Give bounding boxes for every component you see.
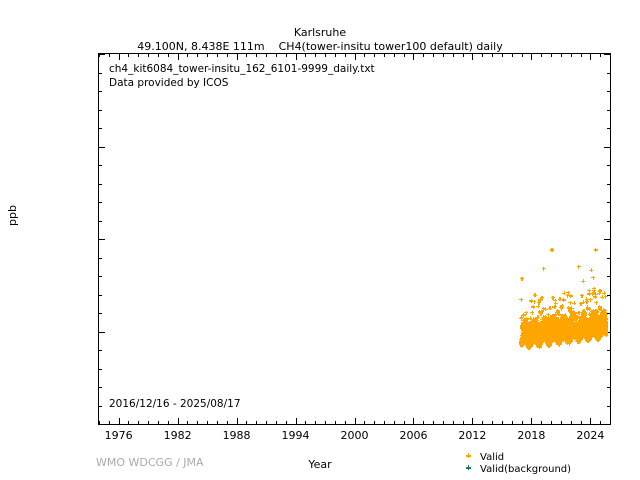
- data-point: [569, 294, 573, 298]
- data-point: [580, 294, 584, 298]
- data-point: [531, 305, 535, 309]
- data-point: [554, 301, 558, 305]
- data-point: [544, 307, 548, 311]
- page-title: Karlsruhe: [0, 27, 640, 39]
- data-point: [532, 300, 536, 304]
- data-point: [533, 293, 537, 297]
- legend-item-2[interactable]: Valid(background): [462, 464, 571, 476]
- x-tick-label: 2024: [550, 430, 630, 442]
- data-point: [589, 298, 593, 302]
- data-point: [604, 295, 608, 299]
- data-point: [560, 304, 564, 308]
- data-point: [562, 298, 566, 302]
- tick-mark: [99, 424, 105, 425]
- data-point: [583, 313, 587, 317]
- y-axis-label: ppb: [7, 212, 19, 226]
- station-subtitle: 49.100N, 8.438E 111m CH4(tower-insitu to…: [0, 41, 640, 53]
- data-point: [591, 276, 595, 280]
- footer-attribution: WMO WDCGG / JMA: [96, 456, 204, 469]
- data-point: [530, 311, 534, 315]
- data-point: [589, 268, 593, 272]
- data-point: [604, 331, 608, 335]
- legend-item-1[interactable]: Valid: [462, 452, 571, 464]
- data-point: [536, 315, 540, 319]
- data-point: [536, 304, 540, 308]
- data-point: [577, 265, 581, 269]
- data-point: [542, 267, 546, 271]
- data-point: [598, 289, 602, 293]
- data-point: [604, 325, 608, 329]
- legend-item-label: Valid: [476, 452, 504, 464]
- data-point: [540, 296, 544, 300]
- data-point: [572, 301, 576, 305]
- tick-mark: [610, 54, 611, 57]
- legend-item-label: Valid(background): [476, 464, 571, 476]
- data-point: [581, 279, 585, 283]
- data-point: [519, 298, 523, 302]
- tick-mark: [610, 421, 611, 424]
- data-point: [594, 248, 598, 252]
- data-point: [520, 277, 524, 281]
- legend: ValidValid(background): [462, 452, 571, 476]
- tick-mark: [604, 424, 610, 425]
- plus-icon: [462, 464, 476, 476]
- data-point: [592, 287, 596, 291]
- data-points-layer: [99, 54, 610, 424]
- plus-icon: [462, 452, 476, 464]
- data-point: [524, 311, 528, 315]
- data-point: [550, 248, 554, 252]
- data-point: [604, 316, 608, 320]
- plot-area: ch4_kit6084_tower-insitu_162_6101-9999_d…: [98, 53, 611, 425]
- data-point: [548, 306, 552, 310]
